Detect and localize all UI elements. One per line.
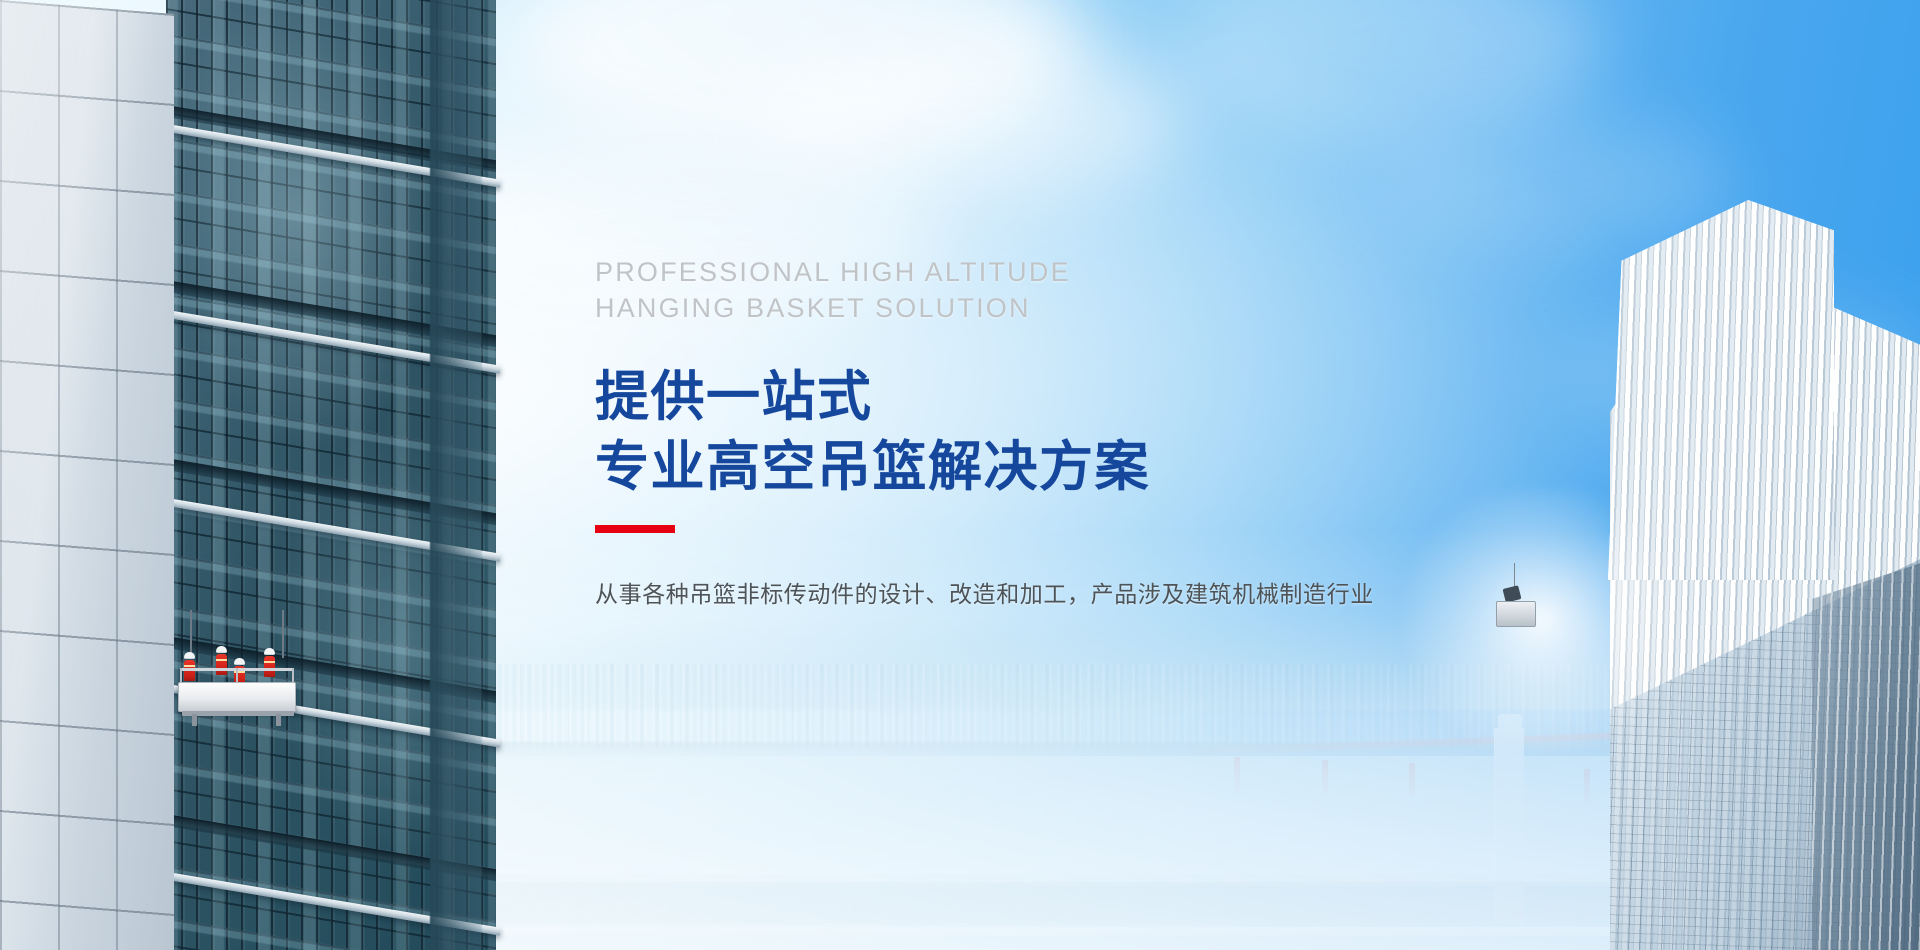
worker <box>184 652 195 681</box>
left-glass-tower <box>0 0 470 950</box>
tower-shadow-fins <box>1812 560 1920 950</box>
platform-stirrup <box>276 714 281 726</box>
hard-hat <box>184 652 195 659</box>
hero-headline: 提供一站式 专业高空吊篮解决方案 <box>595 362 1545 502</box>
english-tagline-line-1: PROFESSIONAL HIGH ALTITUDE <box>595 255 1545 291</box>
english-tagline: PROFESSIONAL HIGH ALTITUDE HANGING BASKE… <box>595 255 1545 326</box>
english-tagline-line-2: HANGING BASKET SOLUTION <box>595 291 1545 327</box>
worker-uniform <box>264 656 275 677</box>
hard-hat <box>264 648 275 655</box>
hero-headline-line-2: 专业高空吊篮解决方案 <box>595 432 1545 502</box>
worker-uniform <box>216 654 227 675</box>
hero-description: 从事各种吊篮非标传动件的设计、改造和加工，产品涉及建筑机械制造行业 <box>595 575 1545 609</box>
suspended-gondola-platform <box>178 648 308 726</box>
suspension-rope <box>190 610 192 658</box>
right-white-tower <box>1500 200 1920 950</box>
hero-text-block: PROFESSIONAL HIGH ALTITUDE HANGING BASKE… <box>595 255 1545 609</box>
platform-stirrup <box>192 714 197 726</box>
hard-hat <box>216 646 227 653</box>
red-divider-rule <box>595 525 675 533</box>
worker <box>264 648 275 677</box>
hero-banner: PROFESSIONAL HIGH ALTITUDE HANGING BASKE… <box>0 0 1920 950</box>
tower-shadowed-face <box>1812 560 1920 950</box>
hard-hat <box>234 658 245 665</box>
platform-deck <box>178 682 296 712</box>
tower-corner-edge <box>430 0 482 950</box>
suspension-rope <box>282 610 284 658</box>
cladding-sheen <box>0 0 174 950</box>
hero-headline-line-1: 提供一站式 <box>595 362 1545 432</box>
